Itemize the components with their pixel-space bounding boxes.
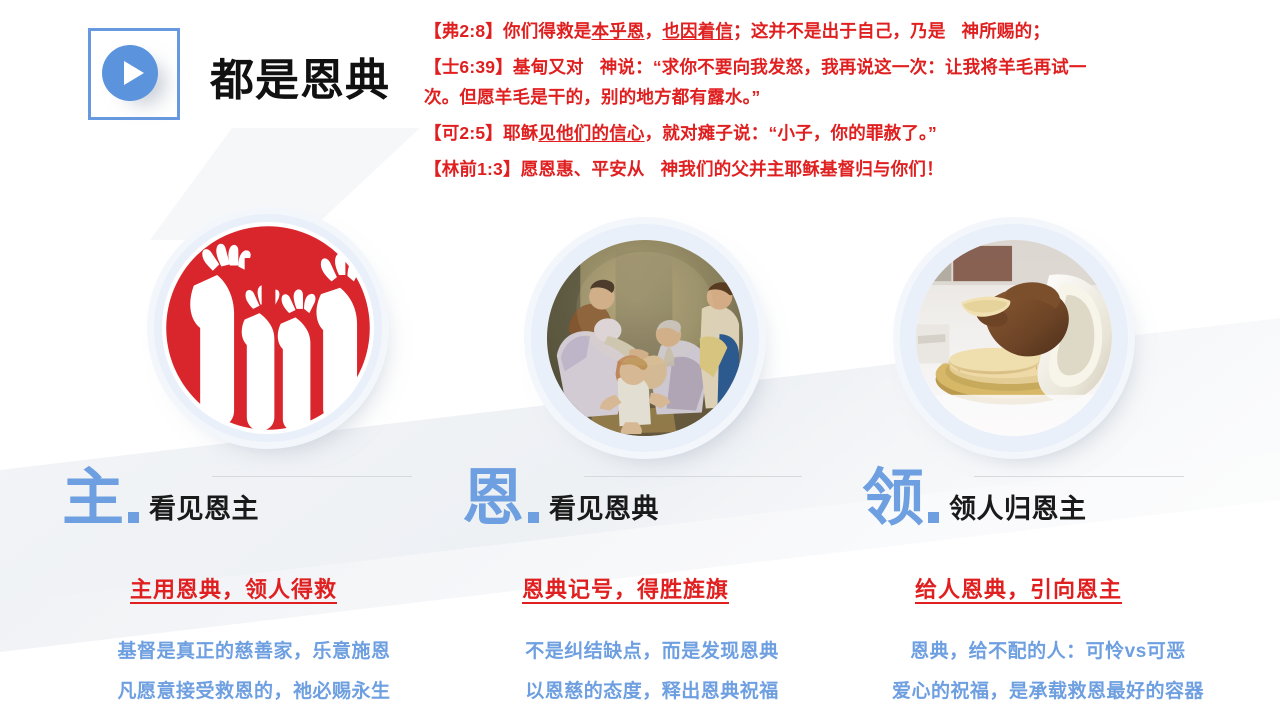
scripture-4-a: 【林前1:3】愿恩惠、平安从 [424, 159, 645, 179]
scripture-2-b: 神说：“求你不要向我发怒，我再说这一次：让我将羊毛再试一 [600, 57, 1087, 77]
circle-image-2 [531, 224, 759, 452]
image-row [0, 214, 1280, 454]
scripture-1-b: ， [645, 21, 663, 41]
communion-bread-photo [916, 240, 1112, 436]
accent-dot-2 [528, 512, 539, 523]
scripture-1-u1: 本乎恩 [592, 21, 645, 41]
scripture-3-a: 【可2:5】耶稣 [424, 123, 538, 143]
communion-wafers-hand-icon [916, 240, 1112, 436]
scripture-4-b: 神我们的父并主耶稣基督归与你们！ [661, 159, 944, 179]
scripture-3-u: 见他们的信心 [538, 123, 644, 143]
scripture-1-a: 【弗2:8】你们得救是 [424, 21, 592, 41]
column-heading-1: 主 看见恩主 [62, 466, 462, 529]
accent-dot-1 [128, 512, 139, 523]
big-character-1: 主 [62, 470, 123, 529]
jacob-blessing-painting [547, 240, 743, 436]
scripture-1-u2: 也因着信 [662, 21, 733, 41]
bullet-2-1: 不是纠结缺点，而是发现恩典 [452, 632, 852, 672]
scripture-1-d: 神所赐的； [962, 21, 1051, 41]
scripture-2-c: 次。但愿羊毛是干的，别的地方都有露水。” [424, 87, 761, 107]
classical-painting-illustration [547, 240, 743, 436]
red-statement-3: 给人恩典，引向恩主 [915, 572, 1122, 604]
accent-dot-3 [928, 512, 939, 523]
raised-hands-cross-icon [162, 222, 374, 434]
big-character-3: 领 [862, 470, 923, 529]
scripture-line-3: 【可2:5】耶稣见他们的信心，就对瘫子说：“小子，你的罪赦了。” [424, 118, 1254, 148]
heading-line-3: 领 领人归恩主 [862, 466, 1280, 529]
big-character-2: 恩 [462, 470, 523, 529]
slide-canvas: 都是恩典 【弗2:8】你们得救是本乎恩，也因着信；这并不是出于自己，乃是神所赐的… [0, 0, 1280, 720]
page-title: 都是恩典 [210, 44, 390, 108]
sub-heading-2: 看见恩典 [549, 487, 659, 526]
heading-line-2: 恩 看见恩典 [462, 466, 862, 529]
red-statement-2: 恩典记号，得胜旌旗 [522, 572, 729, 604]
bullet-3-2: 爱心的祝福，是承载救恩最好的容器 [838, 672, 1258, 712]
column-heading-2: 恩 看见恩典 [462, 466, 862, 529]
play-triangle-icon [124, 61, 144, 85]
red-statement-1: 主用恩典，领人得救 [130, 572, 337, 604]
bullet-2-2: 以恩慈的态度，释出恩典祝福 [452, 672, 852, 712]
heading-line-1: 主 看见恩主 [62, 466, 462, 529]
logo-block [88, 28, 184, 124]
circle-image-1 [154, 214, 382, 442]
scripture-line-4: 【林前1:3】愿恩惠、平安从神我们的父并主耶稣基督归与你们！ [424, 154, 1254, 184]
column-heading-3: 领 领人归恩主 [862, 466, 1280, 529]
bullet-1-1: 基督是真正的慈善家，乐意施恩 [54, 632, 454, 672]
scripture-1-c: ；这并不是出于自己，乃是 [733, 21, 945, 41]
bullet-group-1: 基督是真正的慈善家，乐意施恩 凡愿意接受救恩的，祂必赐永生 [54, 632, 454, 712]
bullet-group-2: 不是纠结缺点，而是发现恩典 以恩慈的态度，释出恩典祝福 [452, 632, 852, 712]
scripture-line-2: 【士6:39】基甸又对神说：“求你不要向我发怒，我再说这一次：让我将羊毛再试一次… [424, 52, 1254, 112]
scripture-block: 【弗2:8】你们得救是本乎恩，也因着信；这并不是出于自己，乃是神所赐的； 【士6… [424, 16, 1254, 190]
bullet-group-3: 恩典，给不配的人：可怜vs可恶 爱心的祝福，是承载救恩最好的容器 [838, 632, 1258, 712]
scripture-line-1: 【弗2:8】你们得救是本乎恩，也因着信；这并不是出于自己，乃是神所赐的； [424, 16, 1254, 46]
scripture-2-a: 【士6:39】基甸又对 [424, 57, 584, 77]
raised-hands-cross-logo [162, 222, 374, 434]
bullet-1-2: 凡愿意接受救恩的，祂必赐永生 [54, 672, 454, 712]
scripture-3-b: ，就对瘫子说：“小子，你的罪赦了。” [645, 123, 937, 143]
sub-heading-3: 领人归恩主 [949, 487, 1087, 526]
sub-heading-1: 看见恩主 [149, 487, 259, 526]
bullet-3-1: 恩典，给不配的人：可怜vs可恶 [838, 632, 1258, 672]
circle-image-3 [900, 224, 1128, 452]
